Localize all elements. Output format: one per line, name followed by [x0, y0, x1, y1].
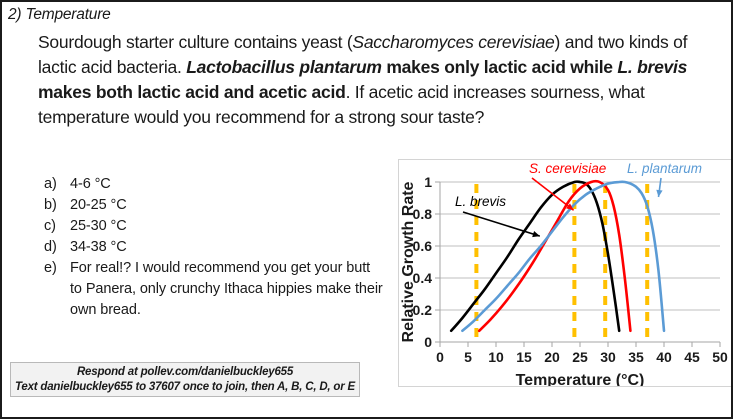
answer-text: 4-6 °C	[70, 174, 384, 195]
annotation-label-l-brevis: L. brevis	[455, 194, 506, 209]
page-title: 2) Temperature	[8, 6, 111, 24]
slide-canvas: 2) Temperature Sourdough starter culture…	[0, 0, 733, 419]
y-axis-title: Relative Growth Rate	[400, 181, 417, 342]
stem-fragment-3: Lactobacillus plantarum	[186, 57, 382, 77]
poll-instructions-box: Respond at pollev.com/danielbuckley655 T…	[10, 362, 360, 397]
poll-line-2: Text danielbuckley655 to 37607 once to j…	[15, 380, 355, 395]
x-tick-label: 10	[488, 349, 504, 365]
answer-options-list: a)4-6 °Cb)20-25 °Cc)25-30 °Cd)34-38 °Ce)…	[44, 174, 384, 321]
answer-key: c)	[44, 216, 70, 237]
y-tick-label: 0	[424, 334, 432, 350]
x-tick-label: 30	[600, 349, 616, 365]
x-tick-label: 15	[516, 349, 532, 365]
stem-fragment-4: makes only lactic acid while	[382, 57, 618, 77]
x-tick-label: 5	[464, 349, 472, 365]
annotation-arrow-head	[532, 231, 540, 237]
answer-option-d[interactable]: d)34-38 °C	[44, 237, 384, 258]
poll-line-1: Respond at pollev.com/danielbuckley655	[77, 365, 293, 380]
answer-text: 34-38 °C	[70, 237, 384, 258]
chart-svg: 05101520253035404550 00.20.40.60.81 S. c…	[399, 160, 733, 387]
x-tick-labels: 05101520253035404550	[436, 349, 728, 365]
answer-text: For real!? I would recommend you get you…	[70, 258, 384, 321]
y-tick-label: 1	[424, 174, 432, 190]
x-tick-label: 25	[572, 349, 588, 365]
stem-fragment-1: Saccharomyces cerevisiae	[352, 32, 554, 52]
answer-key: d)	[44, 237, 70, 258]
stem-fragment-6: makes both lactic acid and acetic acid	[38, 82, 346, 102]
answer-option-e[interactable]: e)For real!? I would recommend you get y…	[44, 258, 384, 321]
annotation-label-s-cerevisiae: S. cerevisiae	[529, 161, 606, 176]
x-tick-label: 40	[656, 349, 672, 365]
answer-key: b)	[44, 195, 70, 216]
x-axis-title: Temperature (°C)	[516, 372, 645, 387]
answer-option-b[interactable]: b)20-25 °C	[44, 195, 384, 216]
answer-option-c[interactable]: c)25-30 °C	[44, 216, 384, 237]
x-tick-label: 50	[712, 349, 728, 365]
answer-text: 20-25 °C	[70, 195, 384, 216]
answer-key: e)	[44, 258, 70, 279]
x-tick-label: 35	[628, 349, 644, 365]
x-tick-label: 45	[684, 349, 700, 365]
answer-option-a[interactable]: a)4-6 °C	[44, 174, 384, 195]
question-stem: Sourdough starter culture contains yeast…	[38, 30, 710, 130]
answer-key: a)	[44, 174, 70, 195]
annotation-arrow-line	[532, 178, 574, 210]
annotation-label-l-plantarum: L. plantarum	[627, 161, 702, 176]
growth-rate-temperature-chart: 05101520253035404550 00.20.40.60.81 S. c…	[398, 159, 733, 387]
stem-fragment-5: L. brevis	[617, 57, 687, 77]
answer-text: 25-30 °C	[70, 216, 384, 237]
x-tick-label: 20	[544, 349, 560, 365]
stem-fragment-0: Sourdough starter culture contains yeast…	[38, 32, 352, 52]
x-tick-label: 0	[436, 349, 444, 365]
